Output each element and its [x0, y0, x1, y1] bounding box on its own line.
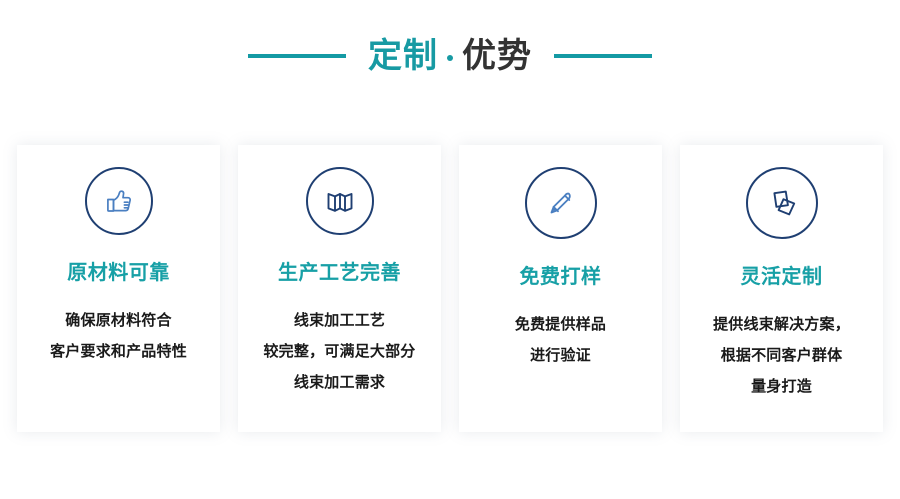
advantage-card-3-body: 免费提供样品 进行验证	[515, 309, 606, 371]
advantage-card-3-line-1: 免费提供样品	[515, 309, 606, 340]
advantage-card-1-line-2: 客户要求和产品特性	[50, 336, 187, 367]
advantage-card-2-line-1: 线束加工工艺	[263, 305, 415, 336]
advantage-card-3[interactable]: 免费打样 免费提供样品 进行验证	[459, 145, 662, 432]
advantage-card-2-body: 线束加工工艺 较完整，可满足大部分 线束加工需求	[263, 305, 415, 398]
section-title-accent: 定制	[368, 39, 438, 73]
advantage-card-3-title: 免费打样	[520, 267, 602, 287]
advantage-card-2-line-2: 较完整，可满足大部分	[263, 336, 415, 367]
stacked-cards-icon	[761, 182, 803, 224]
folded-map-icon	[320, 181, 360, 221]
title-rule-left	[248, 54, 346, 58]
advantage-card-2[interactable]: 生产工艺完善 线束加工工艺 较完整，可满足大部分 线束加工需求	[238, 145, 441, 432]
advantage-card-4-line-3: 量身打造	[713, 371, 850, 402]
advantage-card-3-line-2: 进行验证	[515, 340, 606, 371]
advantage-card-4[interactable]: 灵活定制 提供线束解决方案， 根据不同客户群体 量身打造	[680, 145, 883, 432]
advantage-card-list: 原材料可靠 确保原材料符合 客户要求和产品特性 生产工艺完善 线束加工工艺 较完…	[0, 145, 900, 432]
advantage-card-4-line-1: 提供线束解决方案，	[713, 309, 850, 340]
section-title: 定制 优势	[0, 28, 900, 84]
advantage-card-2-title: 生产工艺完善	[278, 263, 401, 283]
advantage-card-4-title: 灵活定制	[741, 267, 823, 287]
icon-circle-2	[306, 167, 374, 235]
icon-circle-3	[525, 167, 597, 239]
section-title-main: 优势	[462, 39, 532, 73]
advantage-card-4-line-2: 根据不同客户群体	[713, 340, 850, 371]
advantage-card-4-body: 提供线束解决方案， 根据不同客户群体 量身打造	[713, 309, 850, 402]
advantage-card-1[interactable]: 原材料可靠 确保原材料符合 客户要求和产品特性	[17, 145, 220, 432]
advantage-card-1-line-1: 确保原材料符合	[50, 305, 187, 336]
thumbs-up-icon	[99, 181, 139, 221]
section-title-text: 定制 优势	[368, 39, 532, 73]
advantage-card-2-line-3: 线束加工需求	[263, 367, 415, 398]
title-rule-right	[554, 54, 652, 58]
section-title-dot-icon	[447, 55, 453, 61]
pencil-icon	[541, 183, 581, 223]
advantage-card-1-body: 确保原材料符合 客户要求和产品特性	[50, 305, 187, 367]
advantage-card-1-title: 原材料可靠	[67, 263, 170, 283]
icon-circle-1	[85, 167, 153, 235]
icon-circle-4	[746, 167, 818, 239]
